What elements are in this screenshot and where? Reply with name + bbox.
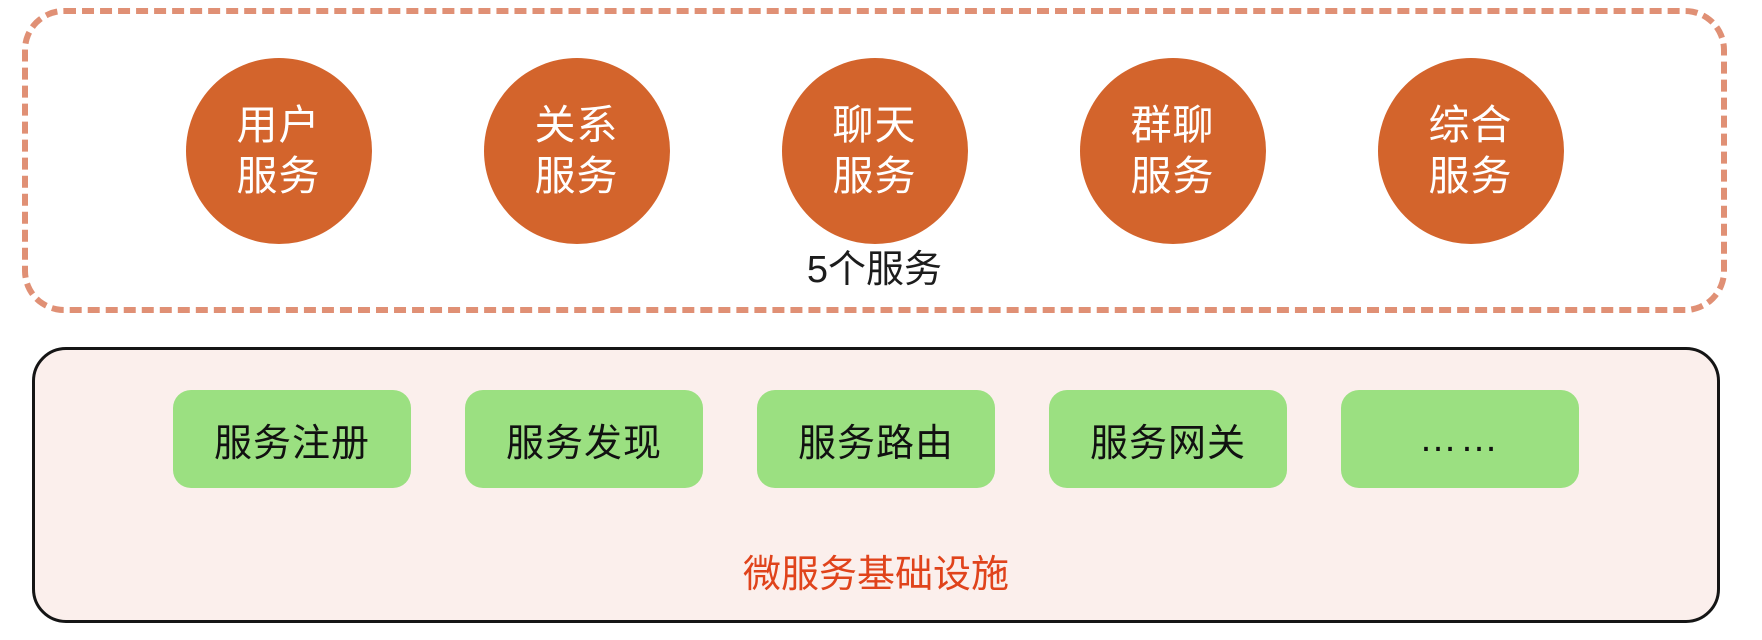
service-circle-relationship[interactable]: 关系 服务 (484, 58, 670, 244)
service-circle-user[interactable]: 用户 服务 (186, 58, 372, 244)
infra-box-service-discovery[interactable]: 服务发现 (465, 390, 703, 488)
service-circle-comprehensive[interactable]: 综合 服务 (1378, 58, 1564, 244)
infra-box-service-routing[interactable]: 服务路由 (757, 390, 995, 488)
service-circle-chat-line1: 聊天 (833, 100, 917, 150)
diagram-canvas: 用户 服务 关系 服务 聊天 服务 群聊 服务 综合 服务 5个服务 (0, 0, 1762, 640)
infra-box-more[interactable]: …… (1341, 390, 1579, 488)
service-circle-user-line2: 服务 (237, 151, 321, 201)
infrastructure-boxes-row: 服务注册 服务发现 服务路由 服务网关 …… (35, 386, 1717, 492)
infra-box-service-gateway[interactable]: 服务网关 (1049, 390, 1287, 488)
service-circle-group-chat[interactable]: 群聊 服务 (1080, 58, 1266, 244)
service-circles-row: 用户 服务 关系 服务 聊天 服务 群聊 服务 综合 服务 (28, 58, 1721, 243)
service-circle-comprehensive-line2: 服务 (1429, 151, 1513, 201)
services-panel: 用户 服务 关系 服务 聊天 服务 群聊 服务 综合 服务 5个服务 (22, 8, 1727, 313)
service-circle-chat[interactable]: 聊天 服务 (782, 58, 968, 244)
infrastructure-panel-caption: 微服务基础设施 (35, 543, 1717, 598)
service-circle-user-line1: 用户 (237, 100, 321, 150)
infra-box-service-registry[interactable]: 服务注册 (173, 390, 411, 488)
service-circle-chat-line2: 服务 (833, 151, 917, 201)
service-circle-group-chat-line1: 群聊 (1131, 100, 1215, 150)
service-circle-group-chat-line2: 服务 (1131, 151, 1215, 201)
infrastructure-panel: 服务注册 服务发现 服务路由 服务网关 …… 微服务基础设施 (32, 347, 1720, 623)
services-panel-caption: 5个服务 (28, 238, 1721, 293)
service-circle-comprehensive-line1: 综合 (1429, 100, 1513, 150)
service-circle-relationship-line2: 服务 (535, 151, 619, 201)
service-circle-relationship-line1: 关系 (535, 100, 619, 150)
